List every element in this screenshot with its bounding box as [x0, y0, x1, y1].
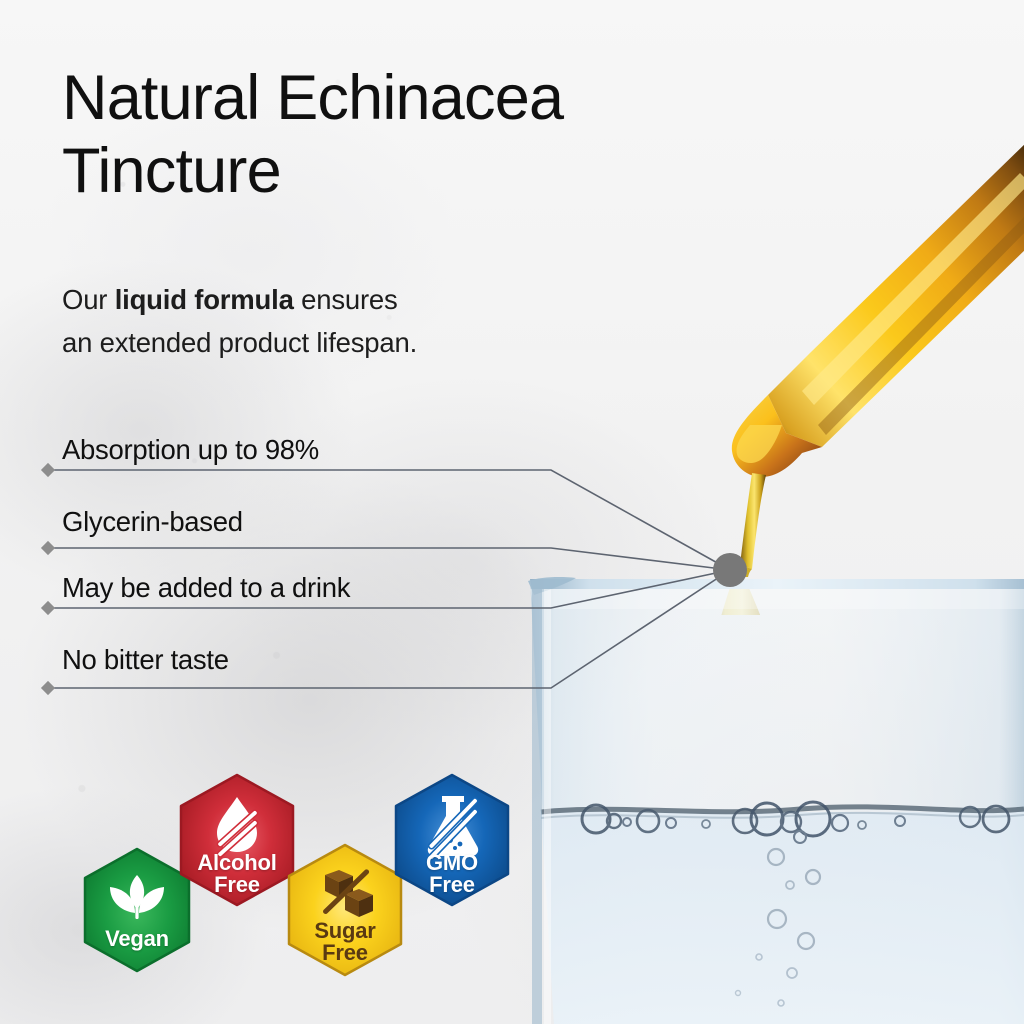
diamond-marker-icon [41, 541, 55, 555]
diamond-marker-icon [41, 463, 55, 477]
leader-end-markers [41, 463, 55, 695]
diamond-marker-icon [41, 601, 55, 615]
feature-label-glycerin: Glycerin-based [62, 506, 243, 538]
diamond-marker-icon [41, 681, 55, 695]
leader-line-2 [48, 548, 730, 570]
badge-gmo-free[interactable]: GMO Free [382, 770, 522, 910]
certification-badges: Vegan Alcohol [62, 760, 542, 985]
convergence-dot [713, 553, 747, 587]
feature-label-absorption: Absorption up to 98% [62, 434, 319, 466]
infographic-canvas: Natural Echinacea Tincture Our liquid fo… [0, 0, 1024, 1024]
feature-label-drink: May be added to a drink [62, 572, 350, 604]
sugar-cubes-crossed-icon [322, 868, 373, 917]
feature-label-taste: No bitter taste [62, 644, 229, 676]
